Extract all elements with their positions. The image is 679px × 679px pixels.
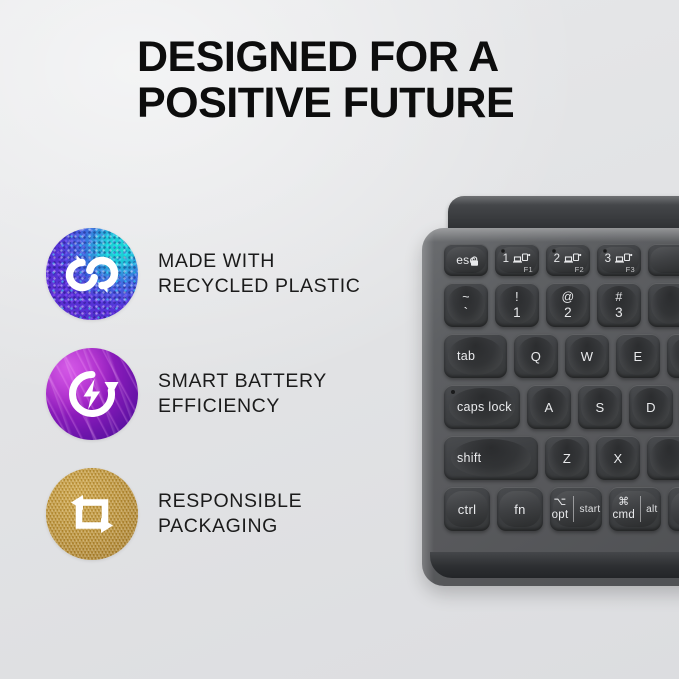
- key-r[interactable]: [667, 334, 679, 378]
- keyboard-number-row: ~ ` ! 1 @ 2: [444, 283, 679, 327]
- feature-list: MADE WITH RECYCLED PLASTIC SMART BATTERY…: [46, 214, 406, 574]
- key-alt-label: start: [574, 504, 600, 515]
- key-shift-label: #: [615, 291, 622, 304]
- key-label: opt: [552, 509, 569, 521]
- key-shift-label: @: [562, 291, 575, 304]
- key-d[interactable]: D: [629, 385, 673, 429]
- key-z[interactable]: Z: [545, 436, 589, 480]
- key-label: ctrl: [458, 502, 477, 517]
- key-f3[interactable]: 3 F3: [597, 244, 641, 276]
- key-4[interactable]: [648, 283, 679, 327]
- key-label: cmd: [612, 509, 635, 521]
- key-glyphs: 3: [597, 252, 641, 266]
- keyboard-bottom-edge: [430, 552, 679, 578]
- responsible-packaging-badge: [46, 468, 138, 560]
- key-label: E: [634, 349, 643, 364]
- key-f2[interactable]: 2 F2: [546, 244, 590, 276]
- key-shift[interactable]: shift: [444, 436, 538, 480]
- key-label: X: [614, 451, 623, 466]
- key-number: 2: [554, 253, 561, 265]
- keyboard-product-photo: esc 1: [418, 196, 679, 586]
- key-w[interactable]: W: [565, 334, 609, 378]
- key-label: S: [596, 400, 605, 415]
- pairing-indicator-dot: [552, 249, 556, 253]
- keyboard-caps-row: caps lock A S D: [444, 385, 679, 429]
- key-fn-label: F2: [575, 265, 584, 274]
- key-label: tab: [457, 349, 475, 363]
- key-label: Q: [531, 349, 541, 364]
- key-fn-label: F3: [626, 265, 635, 274]
- key-esc[interactable]: esc: [444, 244, 488, 276]
- key-shift-label: ~: [462, 291, 470, 304]
- command-symbol-icon: ⌘: [618, 497, 629, 509]
- key-ctrl[interactable]: ctrl: [444, 487, 490, 531]
- responsible-packaging-square-loop-icon: [46, 468, 138, 560]
- monitor-device-icon: [614, 252, 633, 266]
- keyboard-shift-row: shift Z X: [444, 436, 679, 480]
- key-a[interactable]: A: [527, 385, 571, 429]
- key-opt-start[interactable]: ⌥ opt start: [550, 487, 602, 531]
- key-3[interactable]: # 3: [597, 283, 641, 327]
- key-1[interactable]: ! 1: [495, 283, 539, 327]
- feature-label-line-1: RESPONSIBLE: [158, 489, 302, 514]
- key-tilde[interactable]: ~ `: [444, 283, 488, 327]
- recycled-plastic-loop-icon: [46, 228, 138, 320]
- key-tab[interactable]: tab: [444, 334, 507, 378]
- keyboard-function-row: esc 1: [444, 244, 679, 276]
- smart-battery-badge: [46, 348, 138, 440]
- key-label: 3: [615, 306, 623, 320]
- feature-label-line-2: PACKAGING: [158, 514, 302, 539]
- battery-recharge-bolt-icon: [46, 348, 138, 440]
- key-s[interactable]: S: [578, 385, 622, 429]
- option-symbol-icon: ⌥: [554, 497, 567, 509]
- keyboard-keys: esc 1: [444, 244, 679, 538]
- keyboard-bottom-row: ctrl fn ⌥ opt start: [444, 487, 679, 531]
- key-label: fn: [514, 502, 525, 517]
- feature-item-responsible-packaging: RESPONSIBLE PACKAGING: [46, 454, 406, 574]
- key-f4[interactable]: [648, 244, 679, 276]
- feature-item-smart-battery: SMART BATTERY EFFICIENCY: [46, 334, 406, 454]
- key-number: 1: [503, 253, 510, 265]
- feature-item-recycled-plastic: MADE WITH RECYCLED PLASTIC: [46, 214, 406, 334]
- feature-label: SMART BATTERY EFFICIENCY: [158, 369, 327, 419]
- feature-label: RESPONSIBLE PACKAGING: [158, 489, 302, 539]
- feature-label: MADE WITH RECYCLED PLASTIC: [158, 249, 361, 299]
- key-e[interactable]: E: [616, 334, 660, 378]
- page-title: DESIGNED FOR A POSITIVE FUTURE: [137, 35, 607, 126]
- recycled-plastic-badge: [46, 228, 138, 320]
- key-c[interactable]: [647, 436, 679, 480]
- product-feature-image: DESIGNED FOR A POSITIVE FUTURE MADE WITH: [0, 0, 679, 679]
- key-2[interactable]: @ 2: [546, 283, 590, 327]
- keyboard-tab-row: tab Q W E: [444, 334, 679, 378]
- key-alt-label: alt: [641, 504, 657, 515]
- key-glyphs: 2: [546, 252, 590, 266]
- headline-line-1: DESIGNED FOR A: [137, 35, 607, 81]
- feature-label-line-1: MADE WITH: [158, 249, 361, 274]
- key-label: caps lock: [457, 400, 512, 414]
- key-label: W: [581, 349, 594, 364]
- key-glyphs: 1: [495, 252, 539, 266]
- key-label: D: [646, 400, 656, 415]
- caps-lock-indicator-dot: [451, 390, 455, 394]
- key-label: shift: [457, 451, 481, 465]
- key-label: Z: [563, 451, 571, 466]
- monitor-device-icon: [512, 252, 531, 266]
- feature-label-line-1: SMART BATTERY: [158, 369, 327, 394]
- keyboard-body: esc 1: [422, 228, 679, 586]
- key-q[interactable]: Q: [514, 334, 558, 378]
- key-label: 1: [513, 306, 521, 320]
- headline-line-2: POSITIVE FUTURE: [137, 81, 607, 127]
- key-fn-label: F1: [524, 265, 533, 274]
- key-f1[interactable]: 1 F1: [495, 244, 539, 276]
- key-shift-label: !: [515, 291, 519, 304]
- key-label: A: [545, 400, 554, 415]
- key-space[interactable]: [668, 487, 679, 531]
- feature-label-line-2: RECYCLED PLASTIC: [158, 274, 361, 299]
- key-caps-lock[interactable]: caps lock: [444, 385, 520, 429]
- key-x[interactable]: X: [596, 436, 640, 480]
- padlock-icon: [470, 256, 479, 270]
- pairing-indicator-dot: [603, 249, 607, 253]
- key-label: `: [464, 306, 469, 320]
- key-fn[interactable]: fn: [497, 487, 543, 531]
- key-number: 3: [605, 253, 612, 265]
- key-label: 2: [564, 306, 572, 320]
- monitor-device-icon: [563, 252, 582, 266]
- key-cmd-alt[interactable]: ⌘ cmd alt: [609, 487, 661, 531]
- feature-label-line-2: EFFICIENCY: [158, 394, 327, 419]
- pairing-indicator-dot: [501, 249, 505, 253]
